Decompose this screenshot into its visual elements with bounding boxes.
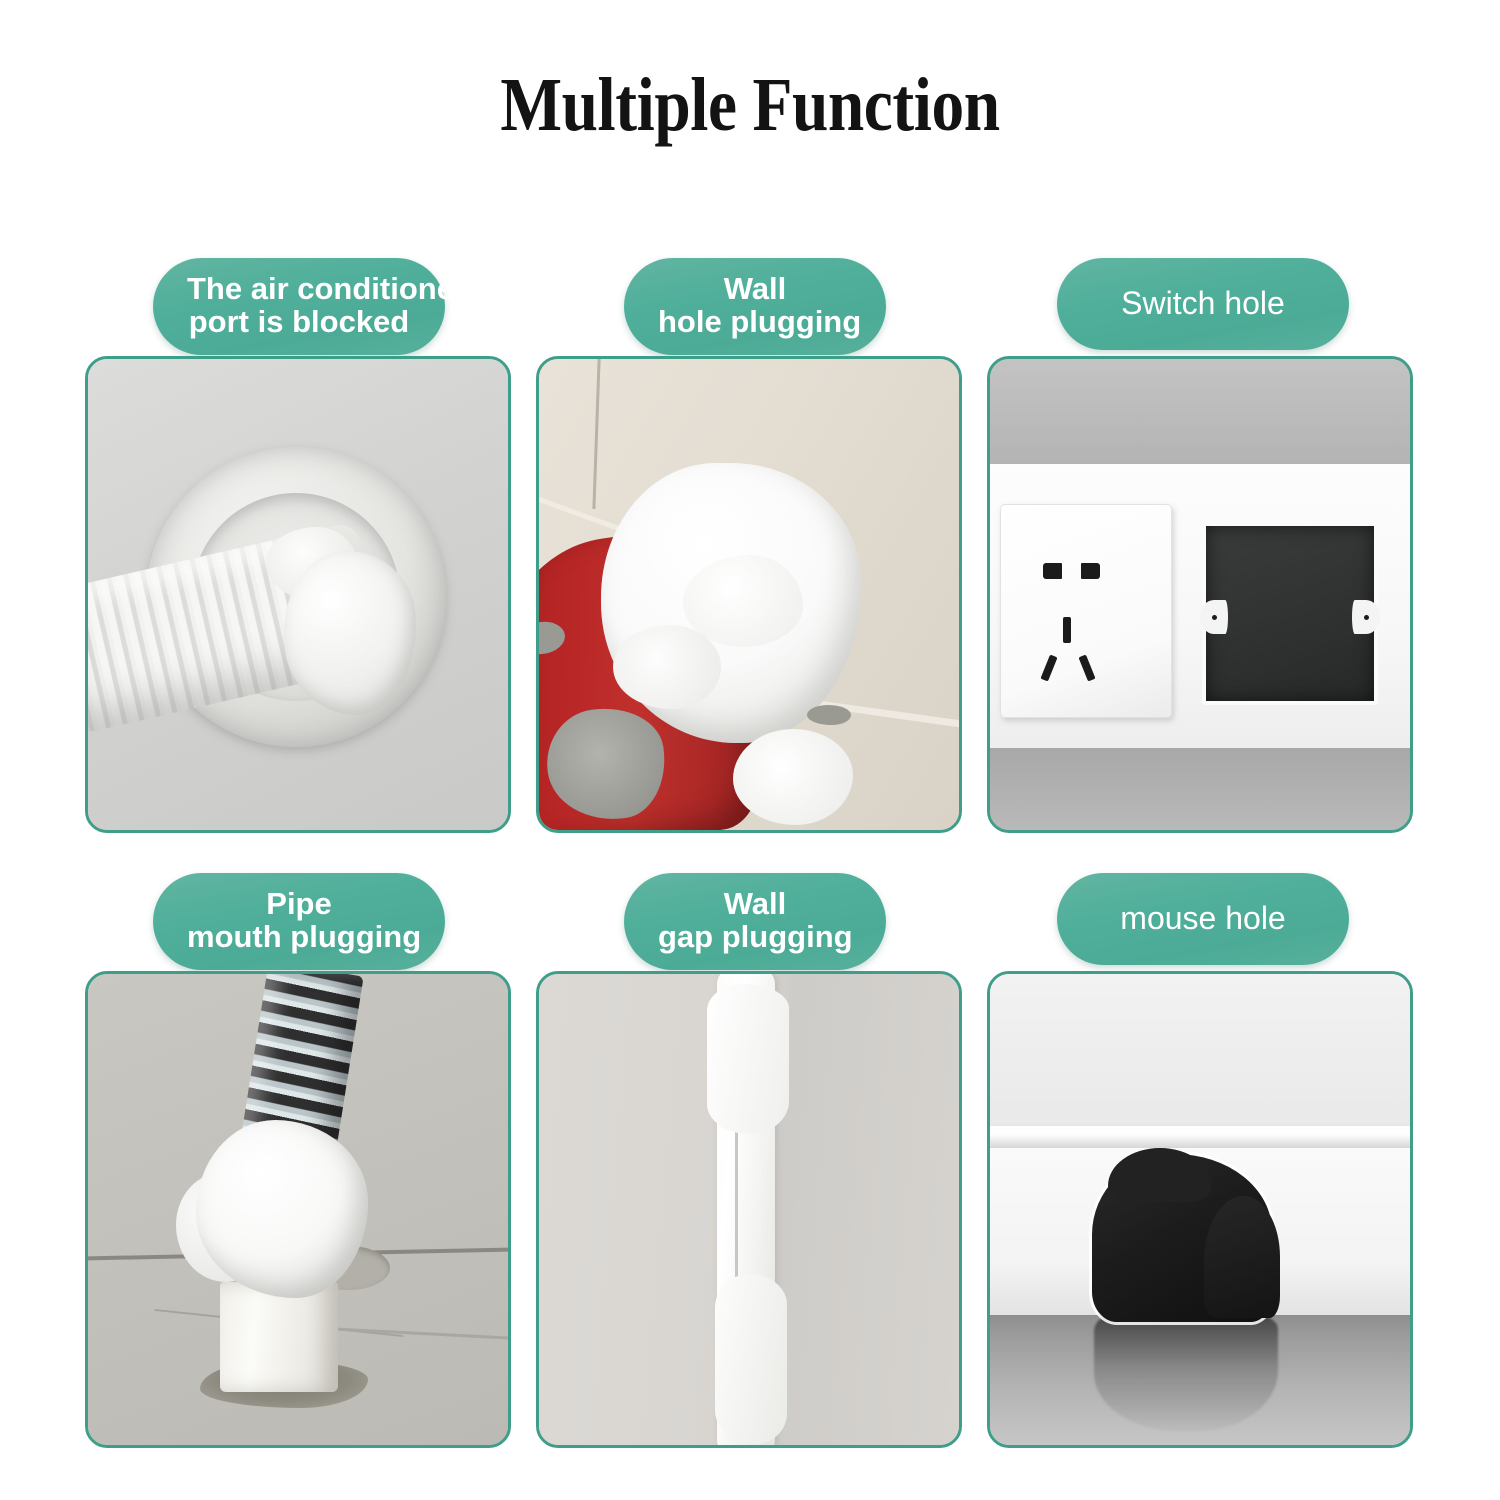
debris-shape: [807, 705, 851, 725]
screw-tab-shape: [1200, 600, 1228, 634]
socket-pin-hole-shape: [1043, 563, 1062, 579]
feature-label-line: mouse hole: [1091, 901, 1315, 936]
foam-seal-shape: [284, 551, 416, 715]
photo-scene: [88, 359, 508, 830]
switch-box-cavity-shape: [1202, 522, 1378, 705]
foam-lobe-shape: [733, 729, 853, 825]
feature-photo-mouse-hole[interactable]: [987, 971, 1413, 1448]
socket-pin-hole-shape: [1078, 654, 1095, 681]
feature-card-switch-hole[interactable]: Switch hole: [987, 258, 1413, 833]
feature-photo-switch-hole[interactable]: [987, 356, 1413, 833]
feature-card-wall-hole-plugging[interactable]: Wall hole plugging: [536, 258, 962, 833]
socket-pin-hole-shape: [1040, 654, 1057, 681]
feature-photo-wall-hole-plugging[interactable]: [536, 356, 962, 833]
feature-photo-air-conditioner-port[interactable]: [85, 356, 511, 833]
feature-label-line: Wall: [658, 887, 852, 920]
label-wrap: Wall hole plugging: [536, 258, 962, 356]
label-wrap: mouse hole: [987, 873, 1413, 971]
feature-card-air-conditioner-port[interactable]: The air conditioner port is blocked: [85, 258, 511, 833]
wall-band-shape: [990, 748, 1410, 830]
foam-lobe-shape: [715, 1274, 787, 1444]
feature-label-line: Pipe: [187, 887, 411, 920]
feature-label-pipe-mouth-plugging[interactable]: Pipe mouth plugging: [153, 873, 445, 970]
floor-reflection-shape: [1094, 1315, 1278, 1431]
molding-shape: [990, 1126, 1410, 1148]
label-wrap: Wall gap plugging: [536, 873, 962, 971]
pvc-pipe-shape: [220, 1282, 338, 1392]
feature-label-wall-gap-plugging[interactable]: Wall gap plugging: [624, 873, 886, 970]
pipe-wear-patch-shape: [540, 701, 672, 828]
feature-row-1: The air conditioner port is blocked: [85, 258, 1415, 833]
page-title: Multiple Function: [105, 62, 1395, 149]
tile-grout-line-shape: [592, 359, 600, 509]
feature-label-line: Switch hole: [1091, 286, 1315, 321]
feature-label-line: Wall: [658, 272, 852, 305]
feature-photo-wall-gap-plugging[interactable]: [536, 971, 962, 1448]
photo-scene: [539, 974, 959, 1445]
feature-label-line: mouth plugging: [187, 920, 411, 953]
feature-card-mouse-hole[interactable]: mouse hole: [987, 873, 1413, 1448]
photo-scene: [990, 359, 1410, 830]
feature-card-wall-gap-plugging[interactable]: Wall gap plugging: [536, 873, 962, 1448]
feature-label-line: gap plugging: [658, 920, 852, 953]
photo-scene: [990, 974, 1410, 1445]
wall-band-shape: [990, 359, 1410, 464]
feature-label-line: port is blocked: [187, 305, 411, 338]
feature-label-air-conditioner-port[interactable]: The air conditioner port is blocked: [153, 258, 445, 355]
feature-label-switch-hole[interactable]: Switch hole: [1057, 258, 1349, 350]
foam-seal-shape: [601, 463, 861, 743]
power-socket-shape: [1000, 504, 1172, 718]
feature-label-line: hole plugging: [658, 305, 852, 338]
feature-label-mouse-hole[interactable]: mouse hole: [1057, 873, 1349, 965]
label-wrap: Pipe mouth plugging: [85, 873, 511, 971]
feature-row-2: Pipe mouth plugging: [85, 873, 1415, 1448]
foam-lobe-shape: [613, 625, 721, 709]
feature-label-wall-hole-plugging[interactable]: Wall hole plugging: [624, 258, 886, 355]
label-wrap: Switch hole: [987, 258, 1413, 356]
foam-lobe-shape: [707, 984, 789, 1134]
wall-shape: [990, 974, 1410, 1129]
photo-scene: [88, 974, 508, 1445]
screw-tab-shape: [1352, 600, 1380, 634]
socket-pin-hole-shape: [1081, 563, 1100, 579]
feature-label-line: The air conditioner: [187, 272, 411, 305]
foam-lobe-shape: [1204, 1196, 1280, 1318]
photo-scene: [539, 359, 959, 830]
pipe-wear-patch-shape: [536, 619, 567, 657]
feature-card-pipe-mouth-plugging[interactable]: Pipe mouth plugging: [85, 873, 511, 1448]
socket-pin-hole-shape: [1063, 617, 1071, 643]
label-wrap: The air conditioner port is blocked: [85, 258, 511, 356]
feature-photo-pipe-mouth-plugging[interactable]: [85, 971, 511, 1448]
feature-grid: The air conditioner port is blocked: [85, 258, 1415, 1488]
